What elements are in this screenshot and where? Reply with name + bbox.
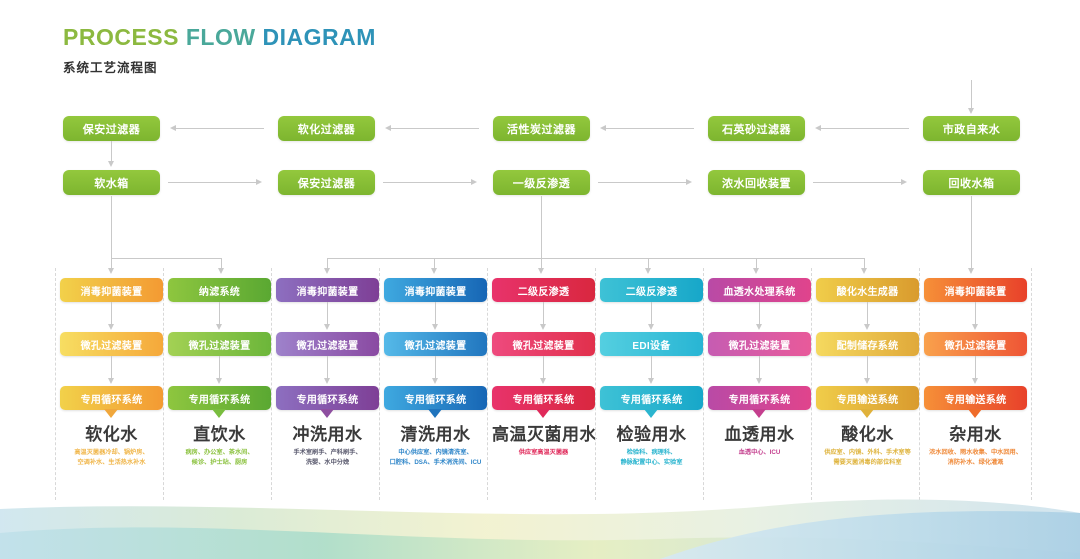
column-miscellaneous-water: 消毒抑菌装置 微孔过滤装置 专用输送系统 杂用水 浓水回收、雨水收集、中水回用、… [924, 268, 1027, 500]
column-node-3[interactable]: 专用循环系统 [60, 386, 163, 410]
arrow-head-r2-c [686, 179, 692, 185]
inlet-connector-line [971, 80, 972, 110]
column-description-line2: 口腔科、DSA、手术消洗间、ICU [378, 458, 493, 468]
column-node-3[interactable]: 专用循环系统 [384, 386, 487, 410]
column-description-line1: 供应室、内镜、外科、手术室等 [810, 448, 925, 458]
node-arrow-2 [540, 378, 546, 384]
arrow-line-r2-a [168, 182, 256, 183]
column-node-2[interactable]: 微孔过滤装置 [384, 332, 487, 356]
column-description-line1: 手术室刷手、产科刷手、 [270, 448, 385, 458]
column-node-3[interactable]: 专用循环系统 [276, 386, 379, 410]
column-node-2[interactable]: 微孔过滤装置 [168, 332, 271, 356]
column-funnel-icon [428, 409, 442, 418]
bus-rail-left [111, 258, 221, 259]
arrow-line-r1-c [606, 128, 694, 129]
node-row1-carbon-filter[interactable]: 活性炭过滤器 [493, 116, 590, 141]
column-node-3[interactable]: 专用循环系统 [708, 386, 811, 410]
node-connector-1 [867, 302, 868, 326]
node-row2-concentrate-recovery[interactable]: 浓水回收装置 [708, 170, 805, 195]
connector-r1-to-r2-left [111, 141, 112, 163]
column-title: 检验用水 [600, 420, 703, 445]
bus-rail-center [327, 258, 865, 259]
node-row2-baoan-filter[interactable]: 保安过滤器 [278, 170, 375, 195]
bottom-wave-decoration [0, 487, 1080, 559]
column-description-line2: 候诊、护士站、厨房 [162, 458, 277, 468]
column-description-line1: 血透中心、ICU [702, 448, 817, 458]
column-description-line2: 空调补水、生活热水补水 [54, 458, 169, 468]
node-arrow-1 [540, 324, 546, 330]
column-description: 检验科、病理科、 静脉配置中心、实验室 [594, 448, 709, 467]
node-connector-2 [543, 356, 544, 380]
column-description: 手术室刷手、产科刷手、 洗婴、水中分娩 [270, 448, 385, 467]
bus-drop-recovery-tank [971, 196, 972, 270]
arrow-head-r2-d [901, 179, 907, 185]
node-connector-1 [111, 302, 112, 326]
arrow-head-r1-to-r2-left [108, 161, 114, 167]
column-description-line2: 消防补水、绿化灌溉 [918, 458, 1033, 468]
column-funnel-icon [104, 409, 118, 418]
column-node-2[interactable]: 微孔过滤装置 [924, 332, 1027, 356]
node-arrow-1 [324, 324, 330, 330]
column-title: 冲洗用水 [276, 420, 379, 445]
column-description: 血透中心、ICU [702, 448, 817, 458]
column-description-line1: 供应室高温灭菌器 [486, 448, 601, 458]
column-node-2[interactable]: 配制储存系统 [816, 332, 919, 356]
node-connector-2 [327, 356, 328, 380]
column-node-1[interactable]: 消毒抑菌装置 [276, 278, 379, 302]
column-node-1[interactable]: 消毒抑菌装置 [60, 278, 163, 302]
column-funnel-icon [536, 409, 550, 418]
column-separator [487, 268, 488, 500]
column-hemodialysis-water: 血透水处理系统 微孔过滤装置 专用循环系统 血透用水 血透中心、ICU [708, 268, 811, 500]
node-connector-2 [975, 356, 976, 380]
arrow-line-r2-d [813, 182, 901, 183]
column-description: 病房、办公室、茶水间、 候诊、护士站、厨房 [162, 448, 277, 467]
arrow-line-r2-c [598, 182, 686, 183]
node-arrow-1 [108, 324, 114, 330]
wave-svg [0, 487, 1080, 559]
node-arrow-1 [864, 324, 870, 330]
arrow-line-r1-b [391, 128, 479, 129]
column-description-line2: 需要灭菌消毒的部位科室 [810, 458, 925, 468]
arrow-line-r1-d [821, 128, 909, 129]
column-cleaning-water: 消毒抑菌装置 微孔过滤装置 专用循环系统 清洗用水 中心供应室、内镜清洗室、 口… [384, 268, 487, 500]
node-row2-soft-water-tank[interactable]: 软水箱 [63, 170, 160, 195]
column-node-1[interactable]: 纳滤系统 [168, 278, 271, 302]
node-arrow-1 [972, 324, 978, 330]
node-connector-2 [759, 356, 760, 380]
node-connector-1 [543, 302, 544, 326]
node-row1-baoan-filter[interactable]: 保安过滤器 [63, 116, 160, 141]
column-node-1[interactable]: 酸化水生成器 [816, 278, 919, 302]
arrow-line-r1-a [176, 128, 264, 129]
node-connector-2 [435, 356, 436, 380]
column-direct-drinking-water: 纳滤系统 微孔过滤装置 专用循环系统 直饮水 病房、办公室、茶水间、 候诊、护士… [168, 268, 271, 500]
node-arrow-1 [648, 324, 654, 330]
column-node-1[interactable]: 消毒抑菌装置 [384, 278, 487, 302]
node-arrow-2 [756, 378, 762, 384]
title-word-flow: FLOW [186, 24, 256, 50]
column-funnel-icon [752, 409, 766, 418]
node-connector-2 [111, 356, 112, 380]
columns-container: 消毒抑菌装置 微孔过滤装置 专用循环系统 软化水 高温灭菌器冷却、锅炉房、 空调… [55, 268, 1025, 500]
arrow-head-r2-b [471, 179, 477, 185]
column-funnel-icon [212, 409, 226, 418]
arrow-head-r1-d [815, 125, 821, 131]
node-row1-municipal-water[interactable]: 市政自来水 [923, 116, 1020, 141]
node-row2-recovery-tank[interactable]: 回收水箱 [923, 170, 1020, 195]
page-header: PROCESS FLOW DIAGRAM 系统工艺流程图 [63, 26, 376, 76]
column-title: 酸化水 [816, 420, 919, 445]
column-node-2[interactable]: 微孔过滤装置 [276, 332, 379, 356]
column-separator [703, 268, 704, 500]
node-arrow-2 [648, 378, 654, 384]
column-description: 浓水回收、雨水收集、中水回用、 消防补水、绿化灌溉 [918, 448, 1033, 467]
arrow-head-r1-c [600, 125, 606, 131]
column-description-line2: 洗婴、水中分娩 [270, 458, 385, 468]
column-funnel-icon [860, 409, 874, 418]
column-title: 软化水 [60, 420, 163, 445]
title-word-diagram: DIAGRAM [262, 24, 375, 50]
column-title: 高温灭菌用水 [492, 420, 595, 445]
page-subtitle: 系统工艺流程图 [63, 57, 376, 76]
title-word-process: PROCESS [63, 24, 179, 50]
column-softened-water: 消毒抑菌装置 微孔过滤装置 专用循环系统 软化水 高温灭菌器冷却、锅炉房、 空调… [60, 268, 163, 500]
node-connector-2 [651, 356, 652, 380]
node-connector-2 [867, 356, 868, 380]
node-arrow-2 [108, 378, 114, 384]
process-flow-diagram-page: PROCESS FLOW DIAGRAM 系统工艺流程图 保安过滤器 软化过滤器… [0, 0, 1080, 559]
column-node-1[interactable]: 二级反渗透 [492, 278, 595, 302]
column-description-line1: 高温灭菌器冷却、锅炉房、 [54, 448, 169, 458]
column-node-3[interactable]: 专用循环系统 [600, 386, 703, 410]
column-flushing-water: 消毒抑菌装置 微孔过滤装置 专用循环系统 冲洗用水 手术室刷手、产科刷手、 洗婴… [276, 268, 379, 500]
column-description: 供应室、内镜、外科、手术室等 需要灭菌消毒的部位科室 [810, 448, 925, 467]
column-description: 中心供应室、内镜清洗室、 口腔科、DSA、手术消洗间、ICU [378, 448, 493, 467]
column-description: 供应室高温灭菌器 [486, 448, 601, 458]
node-connector-1 [759, 302, 760, 326]
arrow-line-r2-b [383, 182, 471, 183]
column-node-1[interactable]: 二级反渗透 [600, 278, 703, 302]
column-description-line1: 病房、办公室、茶水间、 [162, 448, 277, 458]
column-node-2[interactable]: 微孔过滤装置 [60, 332, 163, 356]
node-arrow-2 [216, 378, 222, 384]
arrow-head-r1-a [170, 125, 176, 131]
column-node-2[interactable]: 微孔过滤装置 [492, 332, 595, 356]
node-connector-1 [219, 302, 220, 326]
node-arrow-2 [972, 378, 978, 384]
node-arrow-1 [216, 324, 222, 330]
column-high-temp-sterilization-water: 二级反渗透 微孔过滤装置 专用循环系统 高温灭菌用水 供应室高温灭菌器 [492, 268, 595, 500]
node-connector-1 [327, 302, 328, 326]
node-arrow-2 [864, 378, 870, 384]
node-row1-softening-filter[interactable]: 软化过滤器 [278, 116, 375, 141]
inlet-arrow-head [968, 108, 974, 114]
page-title: PROCESS FLOW DIAGRAM [63, 26, 376, 49]
arrow-head-r1-b [385, 125, 391, 131]
node-arrow-1 [432, 324, 438, 330]
column-description-line1: 检验科、病理科、 [594, 448, 709, 458]
column-title: 杂用水 [924, 420, 1027, 445]
node-connector-1 [975, 302, 976, 326]
node-arrow-1 [756, 324, 762, 330]
column-node-1[interactable]: 消毒抑菌装置 [924, 278, 1027, 302]
column-description-line1: 中心供应室、内镜清洗室、 [378, 448, 493, 458]
column-node-3[interactable]: 专用输送系统 [816, 386, 919, 410]
column-laboratory-water: 二级反渗透 EDI设备 专用循环系统 检验用水 检验科、病理科、 静脉配置中心、… [600, 268, 703, 500]
column-node-3[interactable]: 专用循环系统 [168, 386, 271, 410]
node-row1-quartz-sand-filter[interactable]: 石英砂过滤器 [708, 116, 805, 141]
column-acidified-water: 酸化水生成器 配制储存系统 专用输送系统 酸化水 供应室、内镜、外科、手术室等 … [816, 268, 919, 500]
column-title: 清洗用水 [384, 420, 487, 445]
column-description: 高温灭菌器冷却、锅炉房、 空调补水、生活热水补水 [54, 448, 169, 467]
column-node-2[interactable]: 微孔过滤装置 [708, 332, 811, 356]
node-connector-2 [219, 356, 220, 380]
column-description-line2: 静脉配置中心、实验室 [594, 458, 709, 468]
node-arrow-2 [324, 378, 330, 384]
column-node-3[interactable]: 专用输送系统 [924, 386, 1027, 410]
column-funnel-icon [320, 409, 334, 418]
bus-drop-soft-water-tank [111, 196, 112, 258]
column-description-line1: 浓水回收、雨水收集、中水回用、 [918, 448, 1033, 458]
node-connector-1 [435, 302, 436, 326]
column-title: 直饮水 [168, 420, 271, 445]
node-arrow-2 [432, 378, 438, 384]
column-title: 血透用水 [708, 420, 811, 445]
bus-drop-primary-ro [541, 196, 542, 258]
arrow-head-r2-a [256, 179, 262, 185]
column-funnel-icon [644, 409, 658, 418]
column-funnel-icon [968, 409, 982, 418]
column-node-3[interactable]: 专用循环系统 [492, 386, 595, 410]
column-node-1[interactable]: 血透水处理系统 [708, 278, 811, 302]
column-node-2[interactable]: EDI设备 [600, 332, 703, 356]
node-row2-primary-ro[interactable]: 一级反渗透 [493, 170, 590, 195]
node-connector-1 [651, 302, 652, 326]
